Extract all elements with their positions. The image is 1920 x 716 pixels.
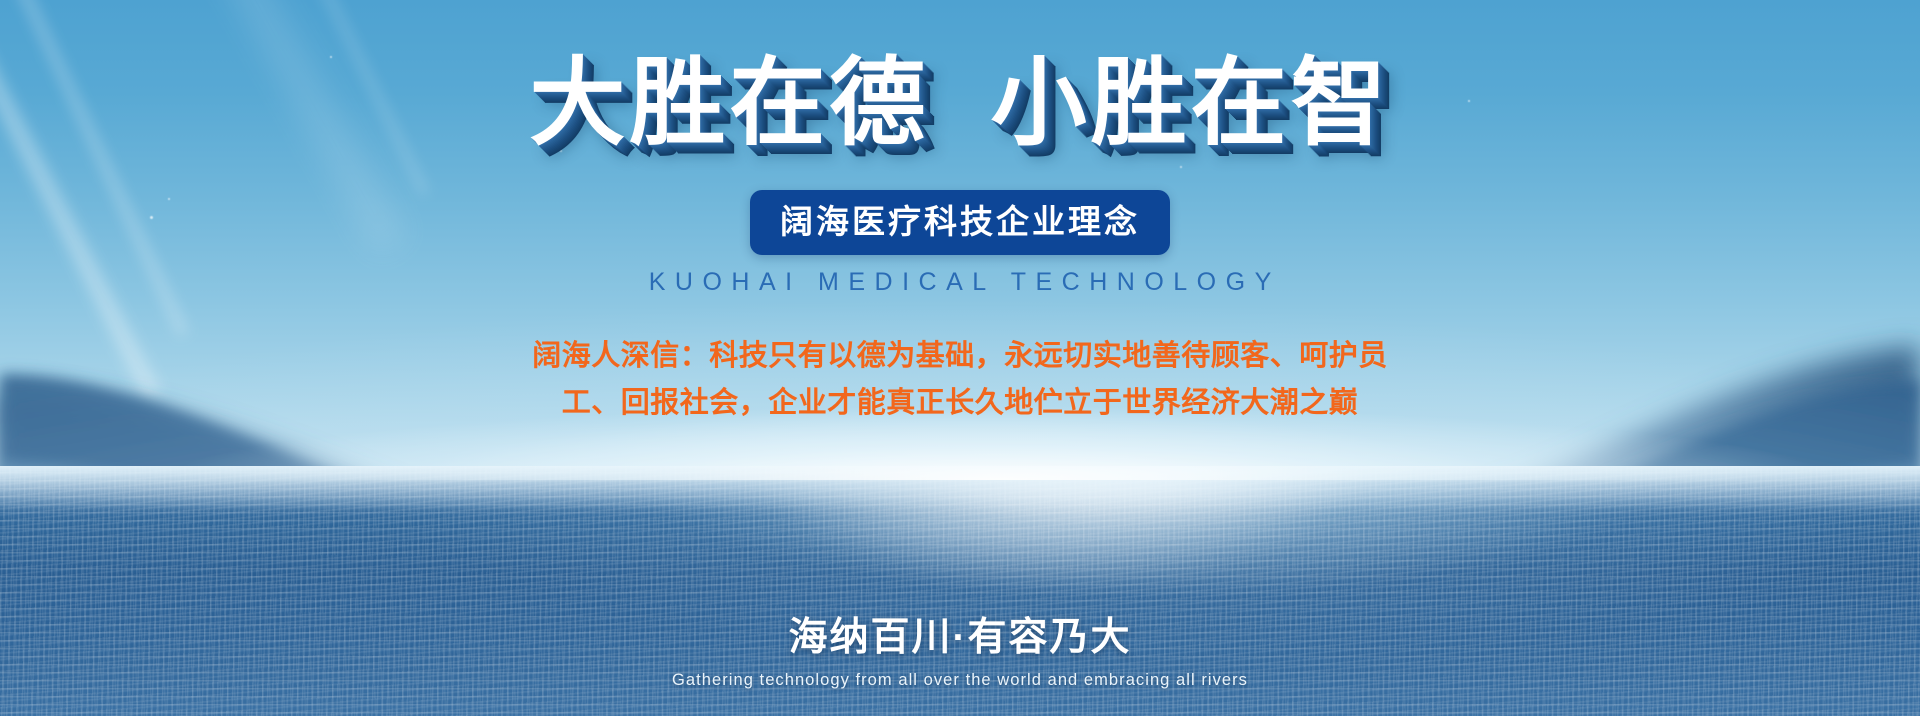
slogan-badge: 阔海医疗科技企业理念 [750,190,1170,256]
philosophy-paragraph: 阔海人深信：科技只有以德为基础，永远切实地善待顾客、呵护员 工、回报社会，企业才… [520,333,1400,427]
footer-english-motto: Gathering technology from all over the w… [672,671,1248,690]
banner-content: 大胜在德 小胜在智 阔海医疗科技企业理念 KUOHAI MEDICAL TECH… [0,0,1920,716]
banner-root: 大胜在德 小胜在智 阔海医疗科技企业理念 KUOHAI MEDICAL TECH… [0,0,1920,716]
footer-chinese-motto: 海纳百川·有容乃大 [789,614,1132,663]
page-title: 大胜在德 小胜在智 [529,52,1390,156]
philosophy-line: 阔海人深信：科技只有以德为基础，永远切实地善待顾客、呵护员 [520,333,1400,380]
philosophy-line: 工、回报社会，企业才能真正长久地伫立于世界经济大潮之巅 [520,380,1400,427]
english-subtitle: KUOHAI MEDICAL TECHNOLOGY [639,268,1281,297]
footer-block: 海纳百川·有容乃大 Gathering technology from all … [0,614,1920,690]
